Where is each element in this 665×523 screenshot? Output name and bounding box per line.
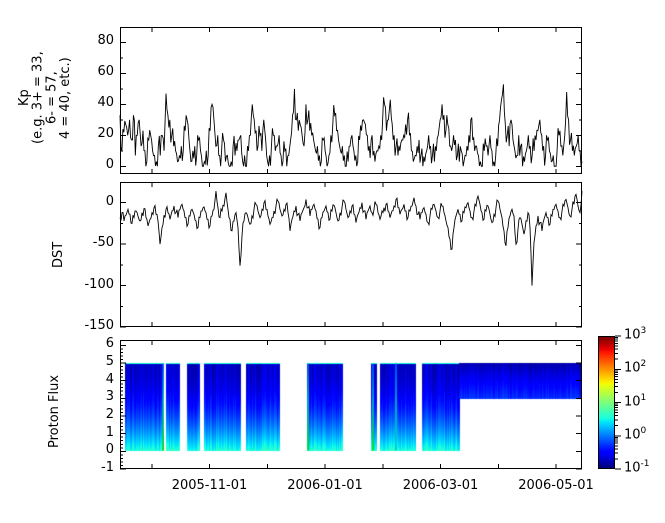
- kp-ytick-20: 20: [58, 126, 114, 141]
- dst-ytick--100: -100: [58, 277, 114, 292]
- flux-xtick-2006-01-01: 2006-01-01: [275, 478, 375, 493]
- dst-ytick-0: 0: [58, 194, 114, 209]
- flux-ytick-6: 6: [58, 336, 114, 351]
- kp-ytick-60: 60: [58, 64, 114, 79]
- kp-ytick-40: 40: [58, 95, 114, 110]
- dst-ytick--50: -50: [58, 235, 114, 250]
- colorbar-tick-10^1: 101: [624, 393, 646, 409]
- flux-ytick-1: 1: [58, 425, 114, 440]
- flux-ytick-2: 2: [58, 407, 114, 422]
- colorbar-frame: [598, 336, 615, 469]
- colorbar-tick-10^-1: 10-1: [624, 459, 650, 475]
- flux-ytick-3: 3: [58, 389, 114, 404]
- flux-xtick-2006-03-01: 2006-03-01: [391, 478, 491, 493]
- figure-canvas: Kp (e.g. 3+ = 33, 6- = 57, 4 = 40, etc.)…: [0, 0, 665, 523]
- colorbar-tick-10^0: 100: [624, 426, 646, 442]
- flux-xtick-2005-11-01: 2005-11-01: [160, 478, 260, 493]
- flux-ytick-0: 0: [58, 442, 114, 457]
- colorbar-tick-10^3: 103: [624, 326, 646, 342]
- flux-ytick-5: 5: [58, 354, 114, 369]
- kp-panel-frame: [120, 27, 582, 174]
- dst-panel-frame: [120, 182, 582, 327]
- flux-xtick-2006-05-01: 2006-05-01: [506, 478, 606, 493]
- flux-ytick--1: -1: [58, 460, 114, 475]
- proton-flux-heatmap: [121, 341, 581, 468]
- colorbar-gradient: [599, 337, 614, 468]
- colorbar-tick-10^2: 102: [624, 359, 646, 375]
- flux-ytick-4: 4: [58, 372, 114, 387]
- kp-ytick-80: 80: [58, 33, 114, 48]
- flux-panel-frame: [120, 340, 582, 469]
- dst-ytick--150: -150: [58, 318, 114, 333]
- kp-ytick-0: 0: [58, 157, 114, 172]
